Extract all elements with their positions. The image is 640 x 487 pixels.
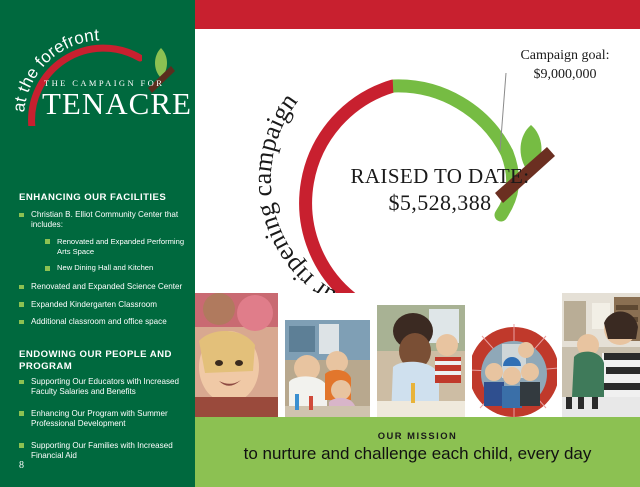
campaign-progress-gauge: our ripening campaign Campaign goal: $9,… <box>195 29 640 293</box>
logo-tenacre: TENACRE <box>42 88 202 119</box>
raised-label: RAISED TO DATE: <box>315 164 565 189</box>
bullet-icon <box>19 411 24 416</box>
bullet-icon <box>19 320 24 325</box>
top-red-bar <box>195 0 640 29</box>
list-item-label: Christian B. Elliot Community Center tha… <box>31 210 178 229</box>
list-item[interactable]: Supporting Our Families with Increased F… <box>19 441 187 462</box>
list-item[interactable]: Expanded Kindergarten Classroom <box>19 300 187 310</box>
page-number: 8 <box>19 460 24 471</box>
list-item-label: Expanded Kindergarten Classroom <box>31 300 157 309</box>
photo-teacher-with-students <box>285 320 370 417</box>
list-item-label: Enhancing Our Program with Summer Profes… <box>31 409 168 428</box>
gauge-green-segment <box>393 86 507 153</box>
list-item[interactable]: Renovated and Expanded Science Center <box>19 282 187 292</box>
list-item[interactable]: Additional classroom and office space <box>19 317 187 327</box>
list-item[interactable]: Renovated and Expanded Performing Arts S… <box>45 237 187 257</box>
bullet-icon <box>19 380 24 385</box>
campaign-logo: at the forefront THE CAMPAIGN FOR TENACR… <box>0 0 195 180</box>
raised-amount: $5,528,388 <box>315 189 565 217</box>
goal-label-line1: Campaign goal: <box>485 46 640 65</box>
bullet-icon <box>19 285 24 290</box>
brochure-page: at the forefront THE CAMPAIGN FOR TENACR… <box>0 0 640 487</box>
sidebar-heading-endowing: ENDOWING OUR PEOPLE AND PROGRAM <box>19 349 179 373</box>
mission-band: OUR MISSION to nurture and challenge eac… <box>195 417 640 487</box>
photo-smiling-blond-child <box>195 293 278 417</box>
bullet-icon <box>45 239 50 244</box>
sidebar-list-facilities: Christian B. Elliot Community Center tha… <box>19 210 187 334</box>
photo-students-at-piano <box>562 293 640 417</box>
list-item[interactable]: New Dining Hall and Kitchen <box>45 263 187 273</box>
list-item-label: Additional classroom and office space <box>31 317 167 326</box>
mission-statement: to nurture and challenge each child, eve… <box>195 444 640 464</box>
list-item-label: Supporting Our Educators with Increased … <box>31 377 179 396</box>
bullet-icon <box>19 302 24 307</box>
photo-children-outdoors-circle <box>472 320 557 417</box>
list-item[interactable]: Supporting Our Educators with Increased … <box>19 377 187 398</box>
bullet-icon <box>19 213 24 218</box>
sidebar-heading-facilities: ENHANCING OUR FACILITIES <box>19 192 166 204</box>
sidebar-list-endowing: Supporting Our Educators with Increased … <box>19 377 187 468</box>
bullet-icon <box>19 443 24 448</box>
photo-girl-writing <box>377 305 465 417</box>
left-green-panel: at the forefront THE CAMPAIGN FOR TENACR… <box>0 0 195 487</box>
list-item-label: New Dining Hall and Kitchen <box>57 263 153 272</box>
list-item-label: Renovated and Expanded Science Center <box>31 282 182 291</box>
goal-label-line2: $9,000,000 <box>485 65 640 84</box>
list-item-label: Supporting Our Families with Increased F… <box>31 441 173 460</box>
mission-eyebrow: OUR MISSION <box>195 430 640 441</box>
photo-strip <box>195 280 640 417</box>
bullet-icon <box>45 266 50 271</box>
list-item[interactable]: Enhancing Our Program with Summer Profes… <box>19 409 187 430</box>
raised-to-date-block: RAISED TO DATE: $5,528,388 <box>315 164 565 217</box>
list-item[interactable]: Christian B. Elliot Community Center tha… <box>19 210 187 273</box>
campaign-goal-label: Campaign goal: $9,000,000 <box>485 46 640 84</box>
sidebar-sublist: Renovated and Expanded Performing Arts S… <box>45 237 187 273</box>
list-item-label: Renovated and Expanded Performing Arts S… <box>57 237 184 256</box>
